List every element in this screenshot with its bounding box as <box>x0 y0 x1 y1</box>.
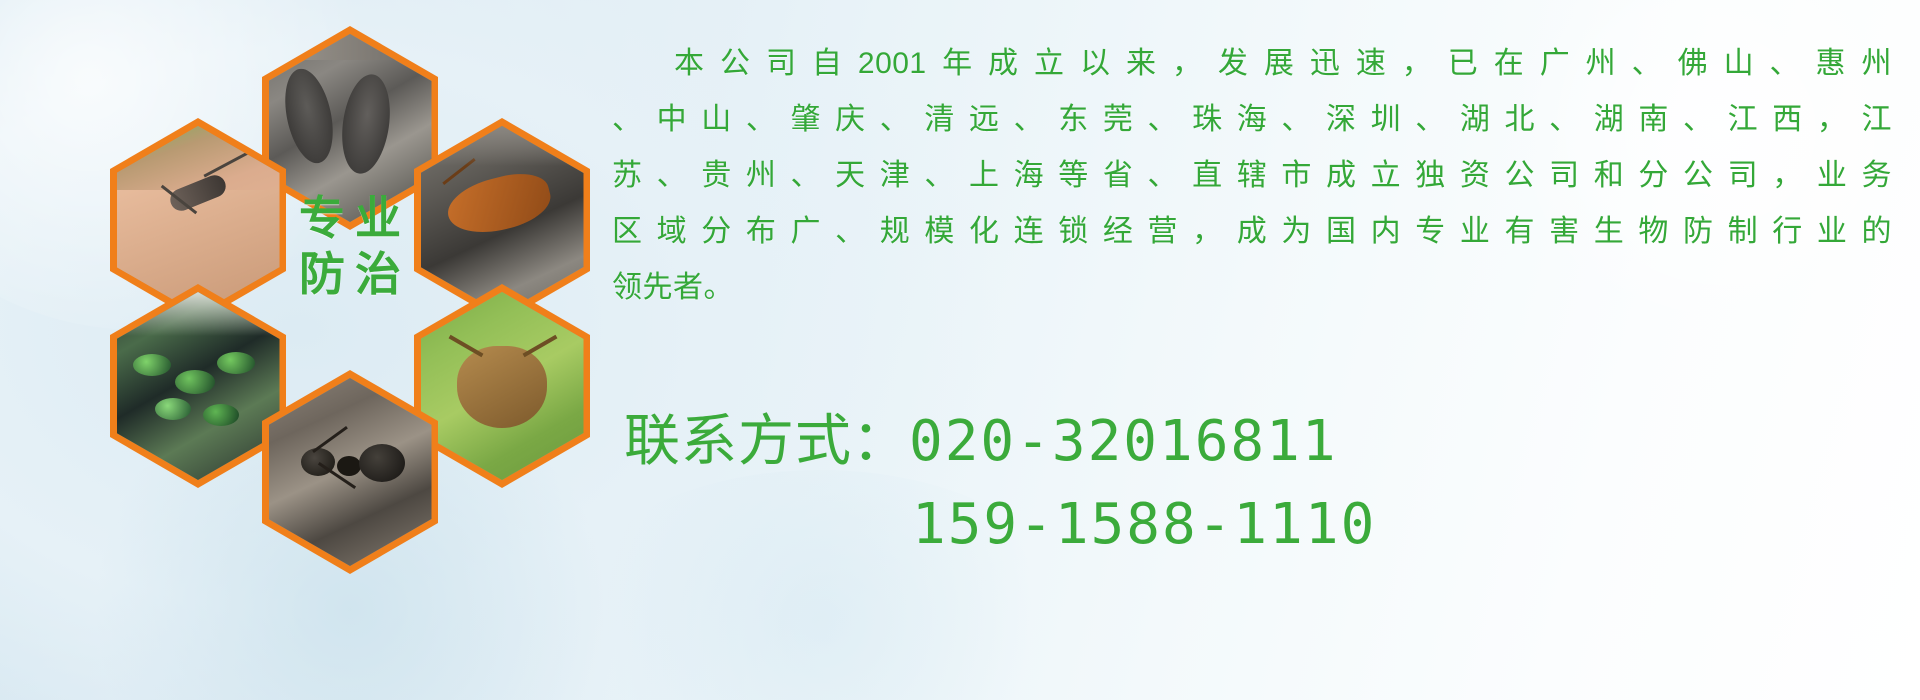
cockroach-body <box>442 166 555 242</box>
fly-4 <box>155 398 191 420</box>
copy-line-3: 苏、贵州、天津、上海等省、直辖市成立独资公司和分公司，业务 <box>612 148 1892 204</box>
ant-thorax <box>337 456 361 476</box>
honeycomb-image-cluster: 专业 防治 <box>88 8 588 568</box>
mosquito-leg-1 <box>203 149 252 177</box>
contact-label: 联系方式： <box>624 409 909 472</box>
cockroach-ground <box>421 126 584 166</box>
stinkbug-photo <box>421 292 584 480</box>
stinkbug-body <box>457 346 547 428</box>
hex-cell-flies-frame <box>117 292 280 480</box>
copy-line-1: 本公司自2001年成立以来，发展迅速，已在广州、佛山、惠州 <box>612 36 1892 92</box>
copy-line-5: 领先者。 <box>612 260 1892 316</box>
contact-phone-2[interactable]: 159-1588-1110 <box>912 492 1376 557</box>
center-label-line2: 防治 <box>289 246 411 302</box>
copy-line-4: 区域分布广、规模化连锁经营，成为国内专业有害生物防制行业的 <box>612 204 1892 260</box>
honeycomb-center-label: 专业 防治 <box>262 144 438 348</box>
ant-photo <box>269 378 432 566</box>
fly-3 <box>217 352 255 374</box>
hex-cell-stinkbug-frame <box>421 292 584 480</box>
contact-primary-line: 联系方式：020-32016811 <box>624 405 1914 478</box>
stinkbug-leg-1 <box>448 335 483 357</box>
hex-cell-stinkbug[interactable] <box>414 284 590 488</box>
promo-banner: 专业 防治 本公司自2001年成立以来，发展迅速，已在广州、佛山、惠州 、中山、… <box>0 0 1920 700</box>
company-description: 本公司自2001年成立以来，发展迅速，已在广州、佛山、惠州 、中山、肇庆、清远、… <box>612 36 1892 316</box>
fly-2 <box>175 370 215 394</box>
fly-1 <box>133 354 171 376</box>
contact-block: 联系方式：020-32016811 159-1588-1110 <box>624 405 1914 561</box>
contact-phone-1[interactable]: 020-32016811 <box>909 409 1338 474</box>
hex-cell-ant-frame <box>269 378 432 566</box>
rats-ground-top <box>277 34 427 60</box>
center-label-line1: 专业 <box>289 190 411 246</box>
copy-line-2: 、中山、肇庆、清远、东莞、珠海、深圳、湖北、湖南、江西，江 <box>612 92 1892 148</box>
flies-photo <box>117 292 280 480</box>
ant-abdomen <box>359 444 405 482</box>
hex-cell-ant[interactable] <box>262 370 438 574</box>
contact-secondary-line: 159-1588-1110 <box>624 488 1914 561</box>
ant-leg-1 <box>312 426 348 453</box>
stinkbug-leg-2 <box>522 335 557 357</box>
fly-5 <box>203 404 239 426</box>
flies-ground <box>117 292 280 336</box>
hex-cell-flies[interactable] <box>110 284 286 488</box>
